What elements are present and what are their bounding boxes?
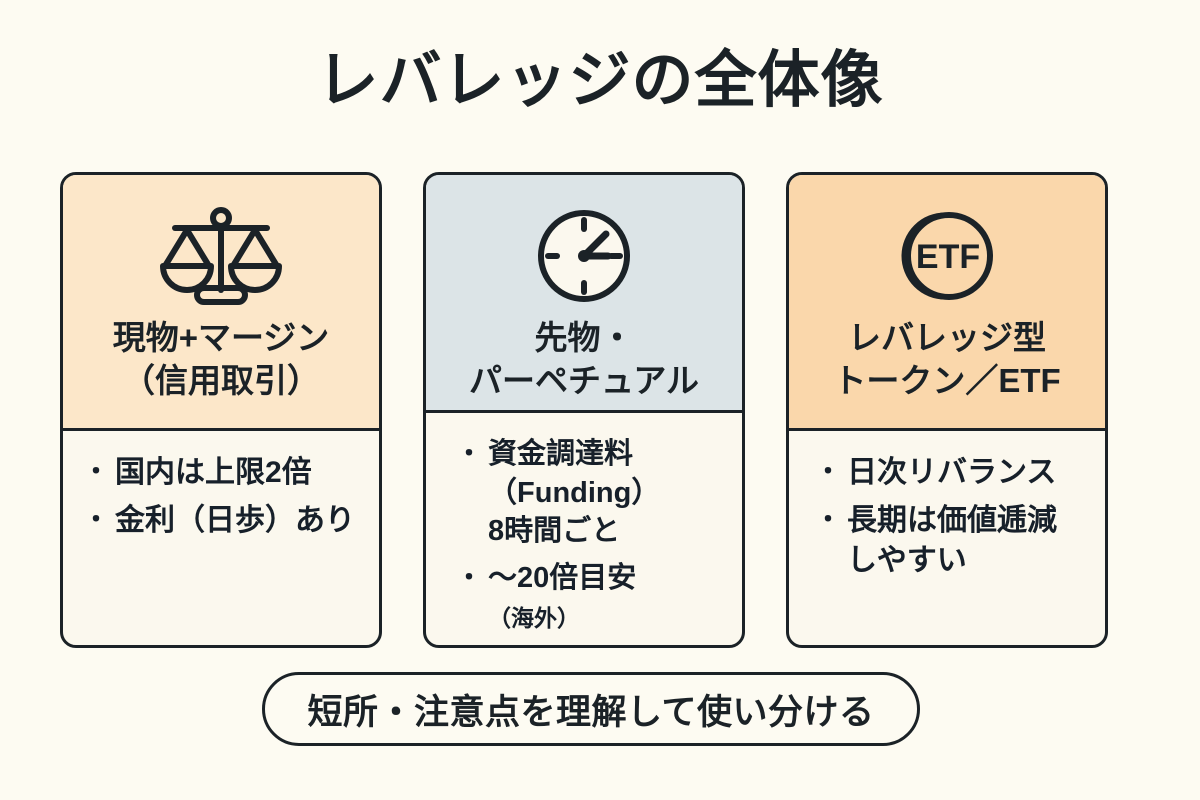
footer-callout-text: 短所・注意点を理解して使い分ける — [308, 684, 875, 735]
page-title: レバレッジの全体像 — [0, 48, 1200, 113]
etf-coin-icon: ETF — [895, 197, 999, 315]
list-item: ・ 〜20倍目安（海外） — [456, 559, 728, 637]
card-title-line-1: 現物+マージン — [113, 317, 330, 360]
bullet-marker: ・ — [456, 435, 482, 473]
card-header: 現物+マージン （信用取引） — [63, 175, 379, 431]
bullet-marker: ・ — [83, 453, 109, 491]
card-futures-perpetual[interactable]: 先物・ パーペチュアル ・ 資金調達料 （Funding） 8時間ごと ・ 〜2… — [423, 172, 745, 648]
list-item: ・ 長期は価値逓減 しやすい — [815, 501, 1091, 581]
balance-scale-icon — [157, 197, 285, 315]
bullet-text: 〜20倍目安 — [488, 562, 636, 594]
bullet-marker: ・ — [815, 501, 841, 539]
card-title: 先物・ パーペチュアル — [469, 317, 699, 403]
bullet-text: 金利（日歩）あり — [115, 501, 355, 541]
card-title-line-2: トークン／ETF — [833, 360, 1060, 403]
card-body: ・ 日次リバランス ・ 長期は価値逓減 しやすい — [789, 431, 1105, 645]
bullet-text: 資金調達料 （Funding） 8時間ごと — [488, 435, 660, 552]
bullet-note: （海外） — [488, 605, 580, 631]
footer-callout: 短所・注意点を理解して使い分ける — [262, 672, 920, 746]
bullet-marker: ・ — [815, 453, 841, 491]
card-title-line-1: レバレッジ型 — [833, 317, 1060, 360]
card-title: レバレッジ型 トークン／ETF — [833, 317, 1060, 403]
svg-text:ETF: ETF — [916, 238, 980, 276]
card-title-line-2: パーペチュアル — [469, 360, 699, 403]
infographic-root: レバレッジの全体像 現物+マー — [0, 0, 1200, 800]
bullet-text: 長期は価値逓減 しやすい — [847, 501, 1057, 581]
bullet-marker: ・ — [83, 501, 109, 539]
card-body: ・ 資金調達料 （Funding） 8時間ごと ・ 〜20倍目安（海外） — [426, 413, 742, 645]
bullet-text: 日次リバランス — [847, 453, 1056, 493]
list-item: ・ 金利（日歩）あり — [83, 501, 365, 541]
card-header: 先物・ パーペチュアル — [426, 175, 742, 413]
card-spot-margin[interactable]: 現物+マージン （信用取引） ・ 国内は上限2倍 ・ 金利（日歩）あり — [60, 172, 382, 648]
card-leveraged-token-etf[interactable]: ETF レバレッジ型 トークン／ETF ・ 日次リバランス ・ 長期は価値逓減 … — [786, 172, 1108, 648]
list-item: ・ 資金調達料 （Funding） 8時間ごと — [456, 435, 728, 552]
bullet-text: 国内は上限2倍 — [115, 453, 312, 493]
card-group: 現物+マージン （信用取引） ・ 国内は上限2倍 ・ 金利（日歩）あり — [60, 172, 1108, 648]
card-title-line-1: 先物・ — [469, 317, 699, 360]
list-item: ・ 国内は上限2倍 — [83, 453, 365, 493]
list-item: ・ 日次リバランス — [815, 453, 1091, 493]
clock-icon — [532, 197, 636, 315]
card-body: ・ 国内は上限2倍 ・ 金利（日歩）あり — [63, 431, 379, 645]
card-title-line-2: （信用取引） — [113, 360, 330, 403]
bullet-marker: ・ — [456, 559, 482, 597]
card-title: 現物+マージン （信用取引） — [113, 317, 330, 403]
card-header: ETF レバレッジ型 トークン／ETF — [789, 175, 1105, 431]
